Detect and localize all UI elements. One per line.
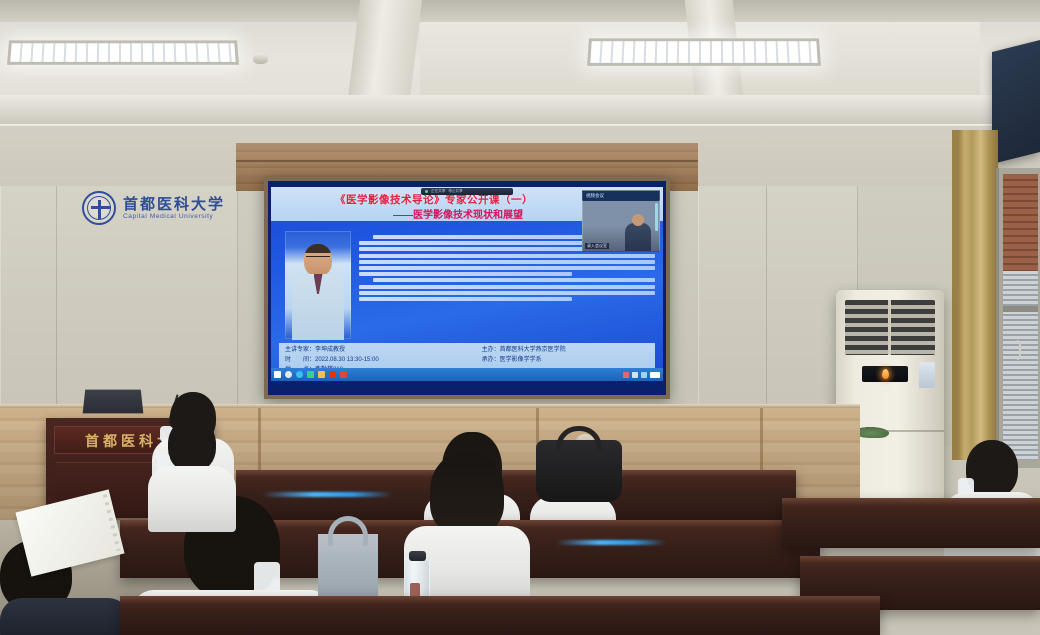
bottle-cap xyxy=(409,551,426,561)
wall-seam xyxy=(766,186,767,416)
window-blind xyxy=(1003,271,1038,460)
university-name-block: 首都医科大学 Capital Medical University xyxy=(123,196,225,220)
university-name-cn: 首都医科大学 xyxy=(123,196,225,213)
air-conditioner-brand-logo xyxy=(856,426,892,438)
video-conference-panel[interactable]: 视频会议 录入会议室 xyxy=(582,190,660,252)
wall-mounted-display xyxy=(992,40,1040,164)
video-participant-label: 录入会议室 xyxy=(585,243,609,249)
info-organizer: 主办：首都医科大学燕京医学院 xyxy=(482,345,649,355)
slide-subtitle: ——医学影像技术现状和展望 xyxy=(331,206,585,221)
energy-label-sticker xyxy=(919,362,935,388)
file-explorer-icon[interactable] xyxy=(318,371,325,378)
laptop-on-podium[interactable] xyxy=(83,390,144,414)
edge-browser-icon[interactable] xyxy=(296,371,303,378)
windows-taskbar[interactable] xyxy=(271,368,663,381)
grey-tote-bag[interactable] xyxy=(318,534,378,596)
smoke-detector-icon xyxy=(253,53,268,64)
window-mullion xyxy=(1003,306,1038,312)
air-conditioner-vent-divider xyxy=(888,300,891,355)
ime-icon[interactable] xyxy=(641,372,647,378)
university-wall-logo: 首都医科大学 Capital Medical University xyxy=(82,184,242,232)
network-icon[interactable] xyxy=(623,372,629,378)
video-participant xyxy=(625,223,651,251)
pdf-reader-icon[interactable] xyxy=(340,371,347,378)
torso-dark-shirt xyxy=(0,598,130,635)
desk-screen-glow xyxy=(556,540,666,545)
search-icon[interactable] xyxy=(285,371,292,378)
university-name-en: Capital Medical University xyxy=(123,213,225,220)
outside-brick-building xyxy=(1003,174,1038,271)
sharing-status-label: 正在共享 xyxy=(431,189,445,194)
projection-screen[interactable]: 《医学影像技术导论》专家公开课（一） ——医学影像技术现状和展望 xyxy=(264,177,670,399)
word-icon[interactable] xyxy=(329,371,336,378)
screen-display-area: 《医学影像技术导论》专家公开课（一） ——医学影像技术现状和展望 xyxy=(268,181,666,395)
wood-band-seam xyxy=(236,160,698,162)
wall-seam xyxy=(56,186,57,416)
video-panel-toolbar: 视频会议 xyxy=(583,191,659,201)
media-player-icon[interactable] xyxy=(307,371,314,378)
info-row: 主讲专家：李坤成教授 主办：首都医科大学燕京医学院 xyxy=(285,345,649,355)
desk-surface xyxy=(782,498,1040,506)
desk-row-front xyxy=(120,596,880,635)
speaker-portrait xyxy=(285,231,351,339)
lecture-hall-photo: 首都医科大学 Capital Medical University 《医学影像技… xyxy=(0,0,1040,635)
window xyxy=(996,168,1040,468)
air-conditioner-display xyxy=(862,366,908,382)
desk-surface xyxy=(120,596,880,604)
head xyxy=(168,418,216,472)
wall-panel-right xyxy=(698,186,858,416)
capital-medical-university-emblem-icon xyxy=(82,191,116,225)
sharing-status-dot-icon xyxy=(425,190,428,193)
window-handle[interactable] xyxy=(1017,340,1021,360)
window-curtain xyxy=(952,130,998,460)
info-speaker: 主讲专家：李坤成教授 xyxy=(285,345,474,355)
clock[interactable] xyxy=(650,372,660,378)
ceiling-light-panel-right xyxy=(587,38,821,66)
video-panel-scrollbar[interactable] xyxy=(655,203,658,231)
start-button[interactable] xyxy=(274,371,281,378)
info-co-organizer: 承办：医学影像学学系 xyxy=(482,355,649,365)
ceiling-light-panel-left xyxy=(7,40,239,64)
hair xyxy=(430,452,504,536)
desk-surface xyxy=(800,556,1040,564)
ceiling-beam-top xyxy=(0,0,1040,22)
person-at-podium xyxy=(148,418,236,530)
window-glass xyxy=(1003,174,1038,460)
black-bag-on-desk[interactable] xyxy=(536,440,622,502)
presentation-slide: 《医学影像技术导论》专家公开课（一） ——医学影像技术现状和展望 xyxy=(271,187,663,381)
info-time: 时 间：2022.08.30 13:30-15:00 xyxy=(285,355,474,365)
portrait-glasses-icon xyxy=(306,256,330,262)
desk-right-upper xyxy=(782,498,1040,548)
volume-icon[interactable] xyxy=(632,372,638,378)
info-row: 时 间：2022.08.30 13:30-15:00 承办：医学影像学学系 xyxy=(285,355,649,365)
screen-share-toolbar[interactable]: 正在共享 停止共享 xyxy=(421,188,513,195)
power-indicator-icon xyxy=(882,369,889,379)
torso-white-shirt xyxy=(148,466,236,532)
stop-sharing-button[interactable]: 停止共享 xyxy=(448,189,462,194)
system-tray[interactable] xyxy=(623,372,660,378)
emblem-inner-ring xyxy=(87,196,111,220)
